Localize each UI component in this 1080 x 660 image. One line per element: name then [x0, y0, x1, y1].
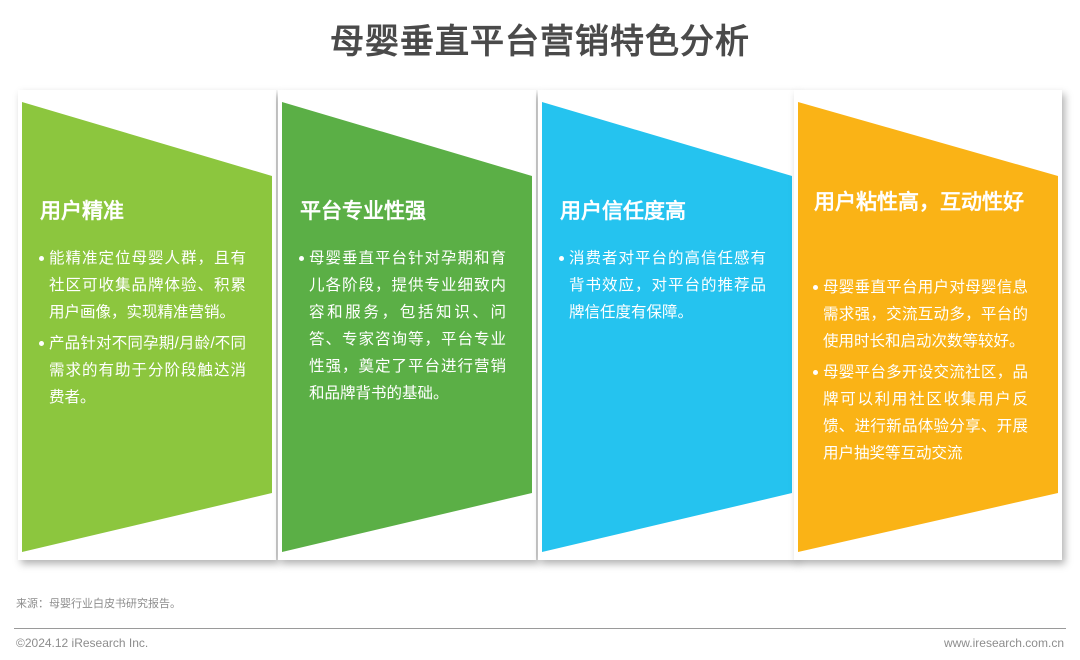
- footer-divider: [14, 628, 1066, 629]
- panel-3-content: 用户信任度高 消费者对平台的高信任感有背书效应，对平台的推荐品牌信任度有保障。: [538, 90, 796, 560]
- panel-3[interactable]: 用户信任度高 消费者对平台的高信任感有背书效应，对平台的推荐品牌信任度有保障。: [538, 90, 796, 560]
- panel-2-heading: 平台专业性强: [300, 195, 515, 229]
- panel-1[interactable]: 用户精准 能精准定位母婴人群，且有社区可收集品牌体验、积累用户画像，实现精准营销…: [18, 90, 276, 560]
- copyright-text: ©2024.12 iResearch Inc.: [16, 636, 148, 650]
- panel-3-bullets: 消费者对平台的高信任感有背书效应，对平台的推荐品牌信任度有保障。: [558, 245, 766, 330]
- panel-3-heading: 用户信任度高: [560, 195, 775, 229]
- panel-2-bullets: 母婴垂直平台针对孕期和育儿各阶段，提供专业细致内容和服务，包括知识、问答、专家咨…: [298, 245, 506, 411]
- panels-container: 用户精准 能精准定位母婴人群，且有社区可收集品牌体验、积累用户画像，实现精准营销…: [0, 90, 1080, 560]
- list-item: 产品针对不同孕期/月龄/不同需求的有助于分阶段触达消费者。: [38, 330, 246, 411]
- list-item: 母婴平台多开设交流社区，品牌可以利用社区收集用户反馈、进行新品体验分享、开展用户…: [812, 359, 1028, 467]
- infographic-page: 母婴垂直平台营销特色分析 用户精准 能精准定位母婴人群，且有社区可收集品牌体验、…: [0, 0, 1080, 660]
- panel-2[interactable]: 平台专业性强 母婴垂直平台针对孕期和育儿各阶段，提供专业细致内容和服务，包括知识…: [278, 90, 536, 560]
- list-item: 能精准定位母婴人群，且有社区可收集品牌体验、积累用户画像，实现精准营销。: [38, 245, 246, 326]
- panel-1-heading: 用户精准: [40, 195, 255, 229]
- panel-1-bullets: 能精准定位母婴人群，且有社区可收集品牌体验、积累用户画像，实现精准营销。 产品针…: [38, 245, 246, 415]
- list-item: 母婴垂直平台用户对母婴信息需求强，交流互动多，平台的使用时长和启动次数等较好。: [812, 274, 1028, 355]
- panel-4-content: 用户粘性高，互动性好 母婴垂直平台用户对母婴信息需求强，交流互动多，平台的使用时…: [794, 90, 1062, 560]
- panel-4-bullets: 母婴垂直平台用户对母婴信息需求强，交流互动多，平台的使用时长和启动次数等较好。 …: [812, 274, 1028, 471]
- panel-4[interactable]: 用户粘性高，互动性好 母婴垂直平台用户对母婴信息需求强，交流互动多，平台的使用时…: [794, 90, 1062, 560]
- panel-1-content: 用户精准 能精准定位母婴人群，且有社区可收集品牌体验、积累用户画像，实现精准营销…: [18, 90, 276, 560]
- panel-4-heading: 用户粘性高，互动性好: [814, 186, 1036, 220]
- page-title: 母婴垂直平台营销特色分析: [0, 14, 1080, 63]
- list-item: 消费者对平台的高信任感有背书效应，对平台的推荐品牌信任度有保障。: [558, 245, 766, 326]
- panel-2-content: 平台专业性强 母婴垂直平台针对孕期和育儿各阶段，提供专业细致内容和服务，包括知识…: [278, 90, 536, 560]
- list-item: 母婴垂直平台针对孕期和育儿各阶段，提供专业细致内容和服务，包括知识、问答、专家咨…: [298, 245, 506, 407]
- source-note: 来源：母婴行业白皮书研究报告。: [16, 595, 181, 611]
- site-url: www.iresearch.com.cn: [944, 636, 1064, 650]
